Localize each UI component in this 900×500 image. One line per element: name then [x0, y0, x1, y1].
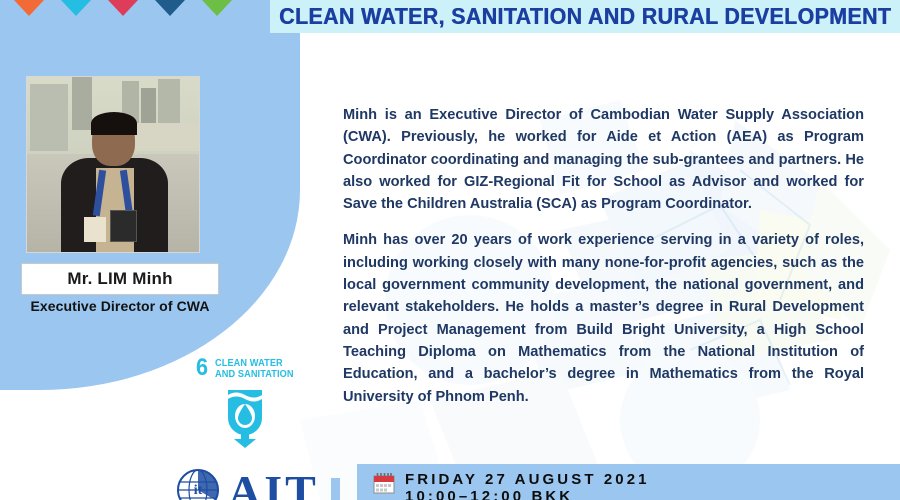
page-title: CLEAN WATER, SANITATION AND RURAL DEVELO… — [279, 3, 891, 30]
sdg-heading: 6 CLEAN WATER AND SANITATION — [196, 358, 296, 380]
speaker-name-box: Mr. LIM Minh — [21, 263, 219, 295]
ait-accent-bar — [331, 478, 340, 500]
pennant-red — [108, 0, 138, 16]
sdg-label-line-1: CLEAN WATER — [215, 358, 294, 369]
svg-text:it: it — [194, 483, 203, 498]
photo-paper — [84, 217, 106, 242]
speaker-photo-image — [27, 77, 199, 252]
photo-badge — [110, 210, 138, 242]
sdg-label-line-2: AND SANITATION — [215, 369, 294, 380]
event-date-lines: FRIDAY 27 AUGUST 2021 10:00–12:00 BKK — [405, 471, 650, 500]
ait-wordmark: AIT — [228, 472, 319, 500]
photo-building-1 — [30, 84, 68, 151]
pennant-cyan — [61, 0, 91, 16]
water-glass-icon — [220, 386, 296, 453]
pennant-row — [14, 0, 232, 16]
pennant-green — [202, 0, 232, 16]
calendar-icon — [372, 471, 396, 500]
event-date-bar: FRIDAY 27 AUGUST 2021 10:00–12:00 BKK — [357, 464, 900, 500]
ait-logo: it AIT — [176, 468, 340, 500]
globe-icon: it — [176, 468, 220, 500]
pennant-orange — [14, 0, 44, 16]
biography-text: Minh is an Executive Director of Cambodi… — [343, 104, 864, 408]
header-band: CLEAN WATER, SANITATION AND RURAL DEVELO… — [270, 0, 900, 33]
speaker-photo — [26, 76, 200, 253]
biography-paragraph-1: Minh is an Executive Director of Cambodi… — [343, 104, 864, 215]
sdg-6-badge: 6 CLEAN WATER AND SANITATION — [196, 358, 296, 453]
photo-hair — [91, 112, 137, 135]
speaker-name: Mr. LIM Minh — [67, 269, 172, 289]
slide-canvas: CLEAN WATER, SANITATION AND RURAL DEVELO… — [0, 0, 900, 500]
speaker-role: Executive Director of CWA — [0, 298, 240, 314]
event-time: 10:00–12:00 BKK — [405, 488, 650, 500]
biography-paragraph-2: Minh has over 20 years of work experienc… — [343, 229, 864, 407]
pennant-navy — [155, 0, 185, 16]
photo-building-2 — [72, 77, 93, 130]
sdg-number: 6 — [196, 358, 208, 378]
event-date: FRIDAY 27 AUGUST 2021 — [405, 471, 650, 488]
